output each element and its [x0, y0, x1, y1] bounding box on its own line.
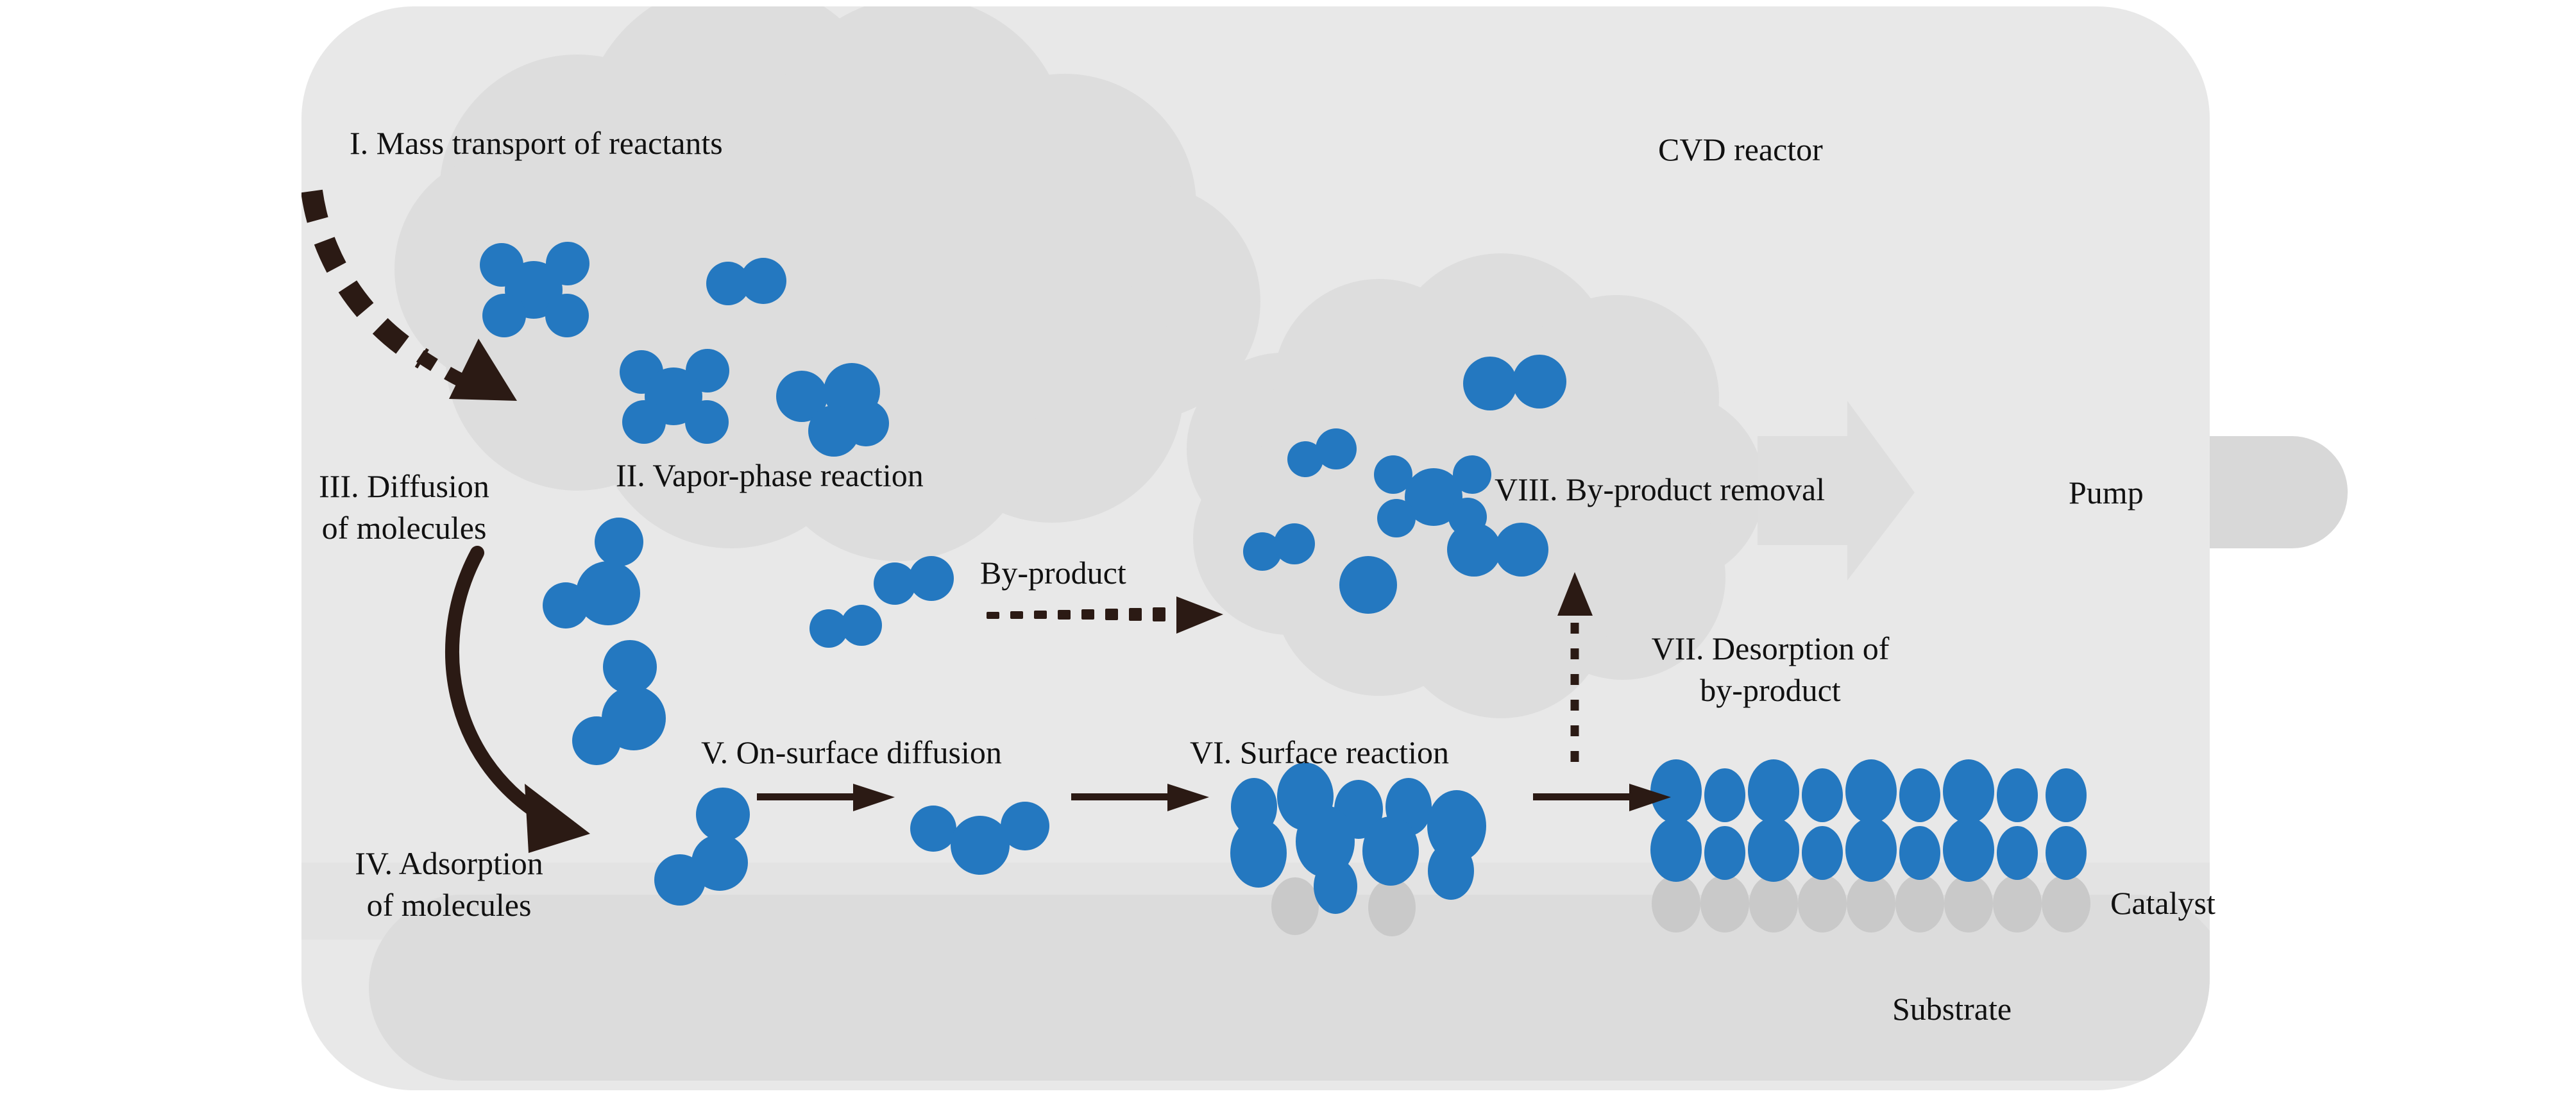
- diagram-canvas: [0, 0, 2576, 1114]
- step-4-label-line1: IV. Adsorption: [295, 845, 603, 881]
- step-6-label: VI. Surface reaction: [1190, 734, 1449, 770]
- step-4-label-line2: of molecules: [295, 887, 603, 923]
- step-5-label: V. On-surface diffusion: [701, 734, 1002, 770]
- step-2-label: II. Vapor-phase reaction: [616, 457, 924, 493]
- step-7-label-line1: VII. Desorption of: [1591, 630, 1950, 666]
- step-3-label-line2: of molecules: [269, 510, 539, 546]
- step-8-label: VIII. By-product removal: [1495, 471, 1825, 507]
- substrate-label: Substrate: [1892, 991, 2012, 1027]
- step-3-label-line1: III. Diffusion: [269, 468, 539, 504]
- step-7-label-line2: by-product: [1591, 672, 1950, 708]
- step-1-label: I. Mass transport of reactants: [350, 125, 723, 161]
- byproduct-label: By-product: [980, 555, 1126, 591]
- pump-label: Pump: [2069, 475, 2144, 511]
- catalyst-label: Catalyst: [2110, 885, 2216, 921]
- cvd-reactor-label: CVD reactor: [1658, 131, 1823, 167]
- cvd-diagram: I. Mass transport of reactants II. Vapor…: [0, 0, 2576, 1114]
